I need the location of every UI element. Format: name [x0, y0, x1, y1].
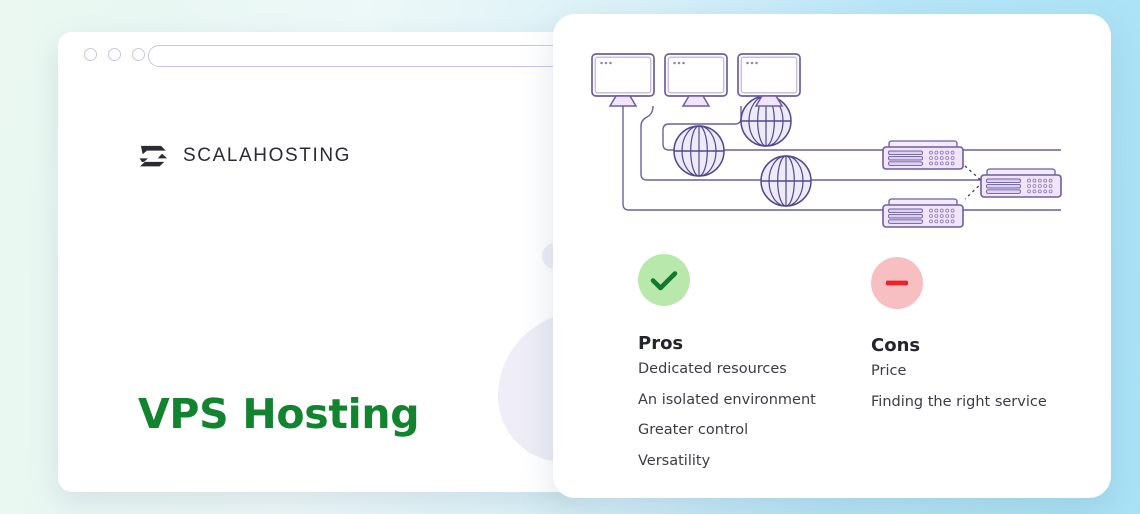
network-diagram: [553, 14, 1111, 249]
scalahosting-s-logo-icon: [138, 142, 170, 170]
monitor-icon: [592, 54, 654, 106]
monitor-icon: [665, 54, 727, 106]
list-item: Price: [871, 356, 1091, 387]
pros-cons-section: Pros Dedicated resources An isolated env…: [553, 254, 1111, 498]
page-title: VPS Hosting: [138, 390, 419, 438]
browser-toolbar: [58, 32, 578, 81]
content-card: Pros Dedicated resources An isolated env…: [553, 14, 1111, 498]
server-rack-icon: [883, 141, 963, 169]
minus-circle-icon: [871, 257, 923, 309]
check-circle-icon: [638, 254, 690, 306]
browser-viewport: SCALAHOSTING VPS Hosting: [58, 80, 578, 492]
globe-icon: [674, 126, 724, 176]
list-item: Finding the right service: [871, 387, 1091, 418]
list-item: Greater control: [638, 415, 858, 446]
address-bar[interactable]: [148, 45, 578, 67]
window-dot-maximize-icon[interactable]: [132, 48, 145, 61]
monitor-icon: [738, 54, 800, 106]
list-item: An isolated environment: [638, 385, 858, 416]
pros-list: Dedicated resources An isolated environm…: [638, 354, 858, 476]
server-rack-icon: [883, 199, 963, 227]
browser-window: SCALAHOSTING VPS Hosting: [58, 32, 578, 492]
list-item: Versatility: [638, 446, 858, 477]
pros-column: Pros Dedicated resources An isolated env…: [638, 254, 858, 476]
server-rack-icon: [981, 169, 1061, 197]
cons-title: Cons: [871, 335, 1091, 356]
window-dot-close-icon[interactable]: [84, 48, 97, 61]
cons-column: Cons Price Finding the right service: [871, 254, 1091, 417]
window-dot-minimize-icon[interactable]: [108, 48, 121, 61]
pros-title: Pros: [638, 333, 858, 354]
cons-list: Price Finding the right service: [871, 356, 1091, 417]
list-item: Dedicated resources: [638, 354, 858, 385]
brand-logo[interactable]: SCALAHOSTING: [138, 142, 351, 170]
screenshot-stage: SCALAHOSTING VPS Hosting: [0, 0, 1140, 514]
brand-name: SCALAHOSTING: [183, 145, 351, 167]
globe-icon: [761, 156, 811, 206]
window-controls: [84, 48, 145, 61]
